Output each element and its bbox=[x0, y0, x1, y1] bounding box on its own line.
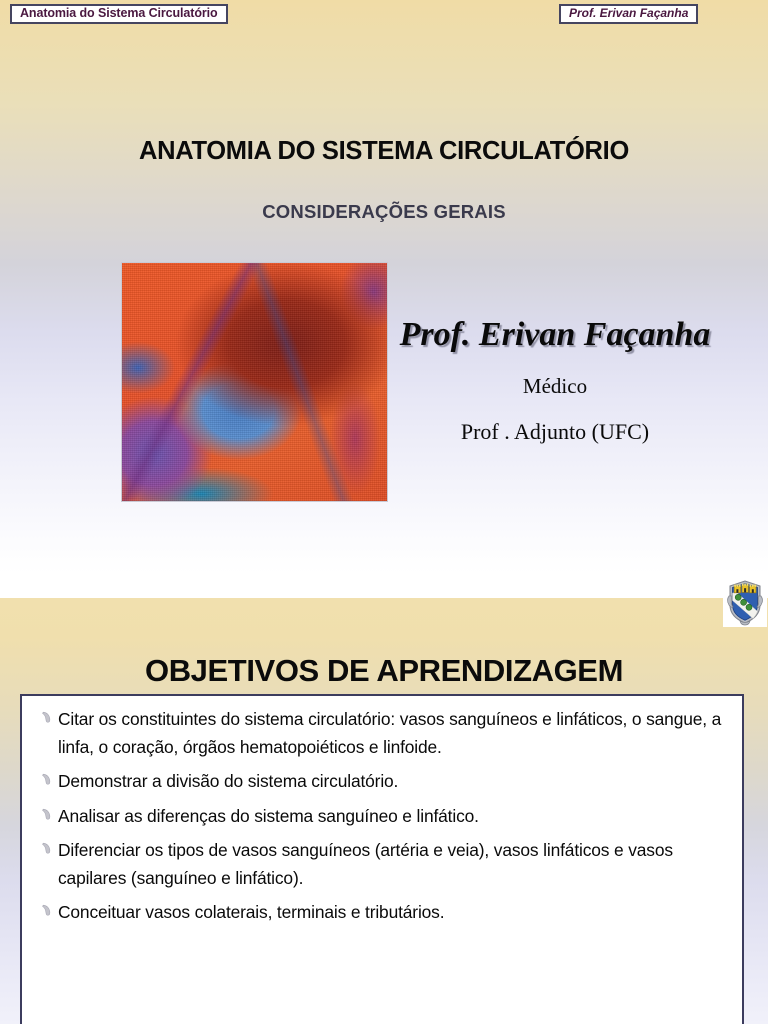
photo-grain-layer bbox=[122, 263, 387, 501]
slide-1-subtitle: CONSIDERAÇÕES GERAIS bbox=[0, 201, 768, 223]
objective-text: Diferenciar os tipos de vasos sanguíneos… bbox=[58, 837, 726, 892]
objective-item: Conceituar vasos colaterais, terminais e… bbox=[36, 899, 726, 927]
slide-1-title: ANATOMIA DO SISTEMA CIRCULATÓRIO bbox=[0, 137, 768, 166]
objective-text: Conceituar vasos colaterais, terminais e… bbox=[58, 899, 726, 927]
author-name: Prof. Erivan Façanha bbox=[352, 316, 758, 354]
objective-text: Analisar as diferenças do sistema sanguí… bbox=[58, 803, 726, 831]
slide-2-footer-band bbox=[0, 574, 768, 598]
footer-subject-tag: Anatomia do Sistema Circulatório bbox=[10, 4, 228, 24]
footer-author-tag: Prof. Erivan Façanha bbox=[559, 4, 698, 24]
objectives-content-box: Citar os constituintes do sistema circul… bbox=[20, 694, 744, 1024]
heart-anatomy-photo bbox=[121, 262, 388, 502]
objective-item: Analisar as diferenças do sistema sanguí… bbox=[36, 803, 726, 831]
slide-deck-page: ANATOMIA DO SISTEMA CIRCULATÓRIO CONSIDE… bbox=[0, 0, 768, 1024]
crescent-bullet-icon bbox=[36, 837, 58, 855]
objective-item: Demonstrar a divisão do sistema circulat… bbox=[36, 768, 726, 796]
objective-text: Demonstrar a divisão do sistema circulat… bbox=[58, 768, 726, 796]
author-role: Médico bbox=[352, 374, 758, 399]
objective-item: Diferenciar os tipos de vasos sanguíneos… bbox=[36, 837, 726, 892]
slide-2-title: OBJETIVOS DE APRENDIZAGEM bbox=[0, 653, 768, 689]
ufc-coat-of-arms-icon bbox=[723, 572, 767, 627]
crescent-bullet-icon bbox=[36, 768, 58, 786]
slide-1: ANATOMIA DO SISTEMA CIRCULATÓRIO CONSIDE… bbox=[0, 0, 768, 574]
author-affiliation: Prof . Adjunto (UFC) bbox=[352, 419, 758, 445]
crescent-bullet-icon bbox=[36, 899, 58, 917]
objective-text: Citar os constituintes do sistema circul… bbox=[58, 706, 726, 761]
crescent-bullet-icon bbox=[36, 803, 58, 821]
objective-item: Citar os constituintes do sistema circul… bbox=[36, 706, 726, 761]
crescent-bullet-icon bbox=[36, 706, 58, 724]
